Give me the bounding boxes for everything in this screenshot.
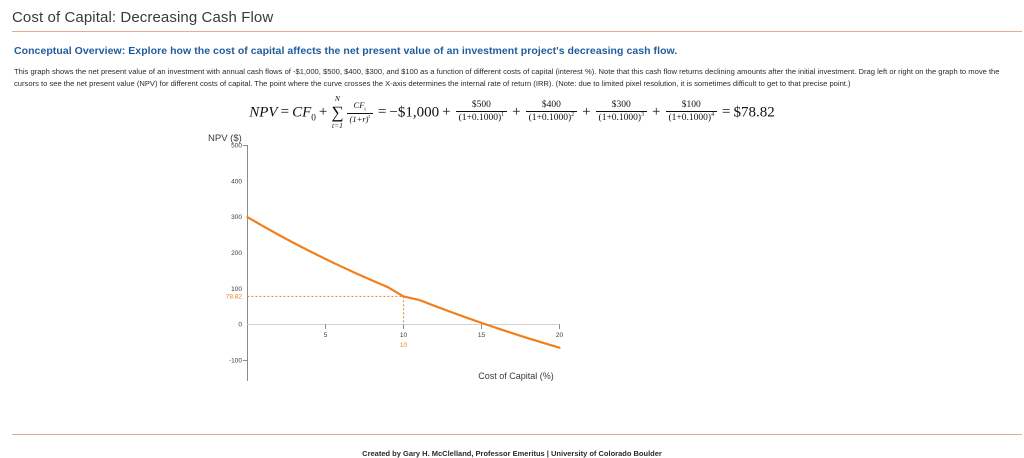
y-tick-label: 100 [231, 285, 242, 292]
term-1-numerator: $500 [456, 100, 508, 112]
x-tick-label: 5 [324, 332, 328, 339]
y-tick-label: 200 [231, 250, 242, 257]
x-tick-label: 15 [478, 332, 486, 339]
general-den-exp: t [368, 115, 369, 121]
conceptual-overview-heading: Conceptual Overview: Explore how the cos… [0, 32, 1024, 57]
y-tick-label: 0 [238, 321, 242, 328]
term-2-den-base: (1+0.1000) [529, 114, 572, 124]
formula-plus-1: + [316, 104, 330, 120]
formula-plus-4: + [579, 104, 593, 120]
x-axis-ticks [326, 324, 560, 329]
cursor-x-value-label: 10 [400, 342, 408, 349]
y-tick-label: 300 [231, 214, 242, 221]
general-num-cf: CF [354, 100, 365, 110]
formula-plus-5: + [649, 104, 663, 120]
formula-term-3: $300(1+0.1000)3 [594, 100, 650, 126]
term-2-denominator: (1+0.1000)2 [526, 111, 578, 125]
general-num-sub: t [364, 107, 365, 113]
formula-general-term: CFt(1+r)t [345, 100, 375, 125]
term-4-den-base: (1+0.1000) [669, 114, 712, 124]
npv-chart-svg[interactable]: NPV ($) 500 400 300 200 100 0 -100 5 [0, 126, 1024, 416]
term-3-numerator: $300 [596, 100, 648, 112]
formula-npv-symbol: NPV [249, 104, 277, 120]
x-tick-label: 20 [556, 332, 564, 339]
page-title: Cost of Capital: Decreasing Cash Flow [0, 0, 1024, 31]
term-2-numerator: $400 [526, 100, 578, 112]
description-paragraph: This graph shows the net present value o… [0, 57, 1016, 91]
formula-plus-2: + [439, 104, 453, 120]
term-1-denominator: (1+0.1000)1 [456, 111, 508, 125]
footer-credit: Created by Gary H. McClelland, Professor… [0, 449, 1024, 458]
footer-divider [12, 434, 1022, 435]
y-tick-labels: 500 400 300 200 100 0 -100 [229, 142, 242, 364]
term-4-exp: 4 [711, 112, 714, 118]
formula-plus-3: + [509, 104, 523, 120]
general-term-denominator: (1+r)t [347, 113, 373, 125]
general-term-numerator: CFt [347, 100, 373, 113]
term-1-den-base: (1+0.1000) [459, 114, 502, 124]
sigma-glyph: ∑ [331, 103, 343, 122]
formula-summation: ∑Nt=1 [330, 104, 344, 121]
formula-equals-2: = [375, 104, 389, 120]
x-axis-title: Cost of Capital (%) [478, 371, 554, 381]
formula-initial-investment: −$1,000 [389, 104, 439, 120]
term-4-numerator: $100 [666, 100, 718, 112]
formula-equals-1: = [278, 104, 292, 120]
y-tick-label: 400 [231, 178, 242, 185]
term-3-den-base: (1+0.1000) [599, 114, 642, 124]
term-1-exp: 1 [501, 112, 504, 118]
formula-term-4: $100(1+0.1000)4 [664, 100, 720, 126]
term-2-exp: 2 [571, 112, 574, 118]
formula-cf0: CF [292, 104, 311, 120]
general-den-base: (1+r) [350, 114, 369, 124]
formula-term-1: $500(1+0.1000)1 [454, 100, 510, 126]
y-tick-label: -100 [229, 357, 242, 364]
cursor-y-value-label: 78.82 [226, 293, 243, 300]
term-3-denominator: (1+0.1000)3 [596, 111, 648, 125]
x-tick-label: 10 [400, 332, 408, 339]
sum-upper-limit: N [335, 95, 340, 103]
formula-equals-3: = [719, 104, 733, 120]
formula-result: $78.82 [733, 104, 774, 120]
npv-formula: NPV=CF0+∑Nt=1CFt(1+r)t=−$1,000+$500(1+0.… [249, 100, 774, 126]
npv-formula-container: NPV=CF0+∑Nt=1CFt(1+r)t=−$1,000+$500(1+0.… [0, 91, 1024, 126]
npv-chart-area[interactable]: NPV ($) 500 400 300 200 100 0 -100 5 [0, 126, 1024, 416]
formula-term-2: $400(1+0.1000)2 [524, 100, 580, 126]
term-4-denominator: (1+0.1000)4 [666, 111, 718, 125]
y-tick-label: 500 [231, 142, 242, 149]
term-3-exp: 3 [641, 112, 644, 118]
